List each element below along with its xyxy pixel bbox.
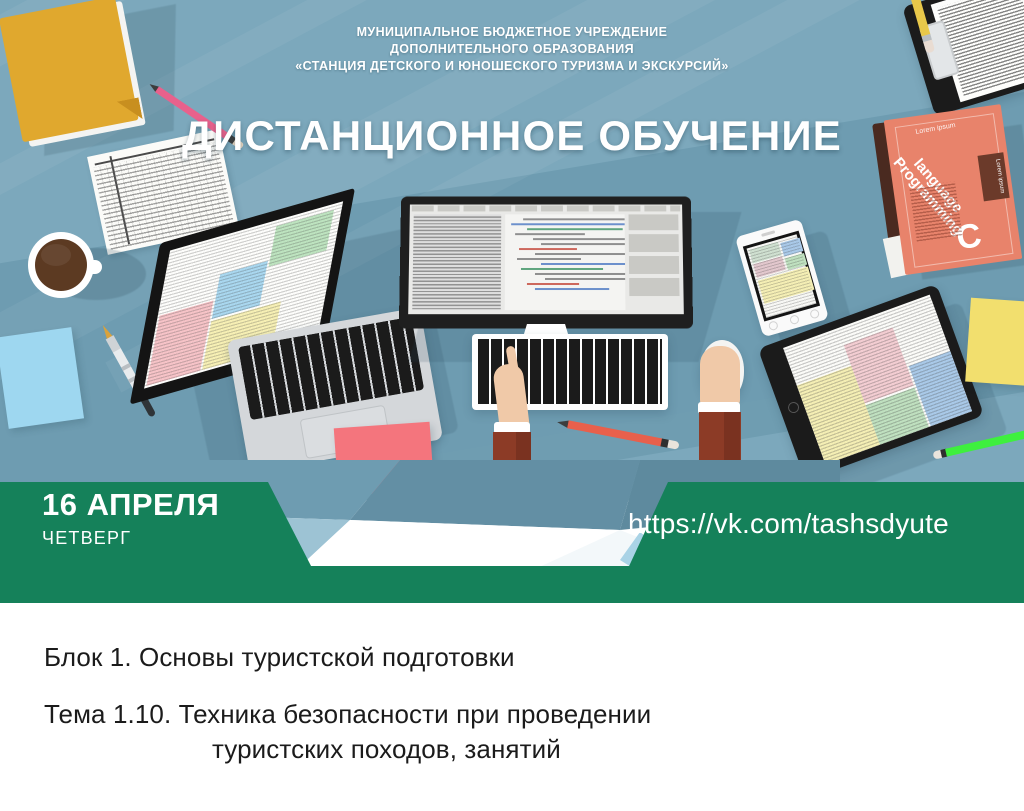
vk-link[interactable]: https://vk.com/tashsdyute xyxy=(628,508,949,540)
lesson-info: Блок 1. Основы туристской подготовки Тем… xyxy=(0,615,1024,765)
blue-sticky-note xyxy=(0,327,84,429)
bottom-green-band xyxy=(0,566,1024,603)
lesson-topic-line-1: Тема 1.10. Техника безопасности при пров… xyxy=(44,699,1024,730)
event-date: 16 АПРЕЛЯ ЧЕТВЕРГ xyxy=(42,487,219,549)
organization-title: МУНИЦИПАЛЬНОЕ БЮДЖЕТНОЕ УЧРЕЖДЕНИЕ ДОПОЛ… xyxy=(0,24,1024,75)
left-hand xyxy=(494,364,536,474)
monitor-bezel xyxy=(399,197,693,329)
organization-line-3: «СТАНЦИЯ ДЕТСКОГО И ЮНОШЕСКОГО ТУРИЗМА И… xyxy=(0,58,1024,75)
lesson-block: Блок 1. Основы туристской подготовки xyxy=(44,642,1024,673)
desktop-monitor xyxy=(400,196,692,328)
page-title: ДИСТАНЦИОННОЕ ОБУЧЕНИЕ xyxy=(0,112,1024,160)
organization-line-1: МУНИЦИПАЛЬНОЕ БЮДЖЕТНОЕ УЧРЕЖДЕНИЕ xyxy=(0,24,1024,41)
organization-line-2: ДОПОЛНИТЕЛЬНОГО ОБРАЗОВАНИЯ xyxy=(0,41,1024,58)
poster: Lorem ipsum Programming language C Lorem… xyxy=(0,0,1024,811)
illustration-scene: Lorem ipsum Programming language C Lorem… xyxy=(0,0,1024,500)
coffee-cup xyxy=(28,232,94,298)
right-hand xyxy=(698,346,746,458)
lesson-topic-line-2: туристских походов, занятий xyxy=(212,734,1024,765)
date-day-month: 16 АПРЕЛЯ xyxy=(42,487,219,523)
date-weekday: ЧЕТВЕРГ xyxy=(42,528,219,549)
monitor-screen xyxy=(408,205,684,315)
yellow-sticky-note xyxy=(965,298,1024,387)
